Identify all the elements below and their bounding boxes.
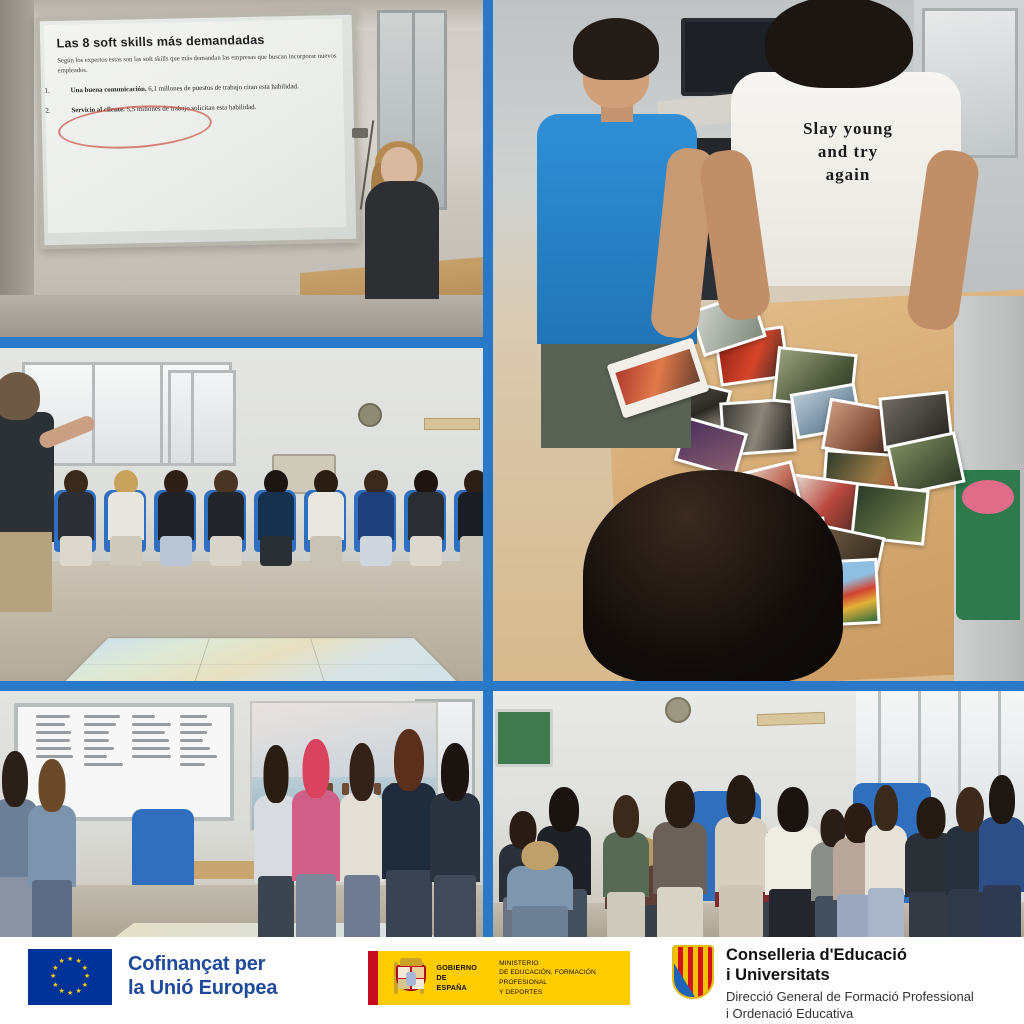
ministerio-label: MINISTERIO DE EDUCACIÓN, FORMACIÓN PROFE…	[499, 959, 630, 997]
conselleria-text: Conselleria d'Educació i Universitats Di…	[726, 945, 974, 1023]
seated-students-row	[30, 466, 482, 562]
photo-projector-slide[interactable]: Las 8 soft skills más demandadas Según l…	[0, 0, 483, 337]
person-student	[715, 775, 767, 937]
slide-item-2-number: 2.	[59, 106, 71, 117]
spain-flag-stripe	[368, 951, 378, 1005]
gobierno-de-espana-logo: GOBIERNO DE ESPAÑA MINISTERIO DE EDUCACI…	[368, 951, 630, 1005]
conselleria-educacio-logo: Conselleria d'Educació i Universitats Di…	[672, 945, 974, 1023]
whiteboard-notes-column	[36, 715, 76, 763]
eu-star-icon: ★	[84, 974, 90, 980]
person-student	[406, 470, 446, 560]
photo-image	[0, 691, 483, 937]
slide-item-1-number: 1.	[58, 86, 70, 97]
eu-star-icon: ★	[59, 989, 65, 995]
slide-content: Las 8 soft skills más demandadas Según l…	[56, 32, 339, 117]
person-student	[292, 739, 340, 937]
eu-star-icon: ★	[67, 957, 73, 963]
office-chair	[132, 809, 194, 897]
person-student	[653, 781, 707, 937]
person-student	[256, 470, 296, 560]
person-student	[382, 729, 436, 937]
person-student	[28, 759, 76, 937]
eu-logo-text: Cofinançat per la Unió Europea	[128, 953, 277, 1000]
european-union-logo: ★★★★★★★★★★★★ Cofinançat per la Unió Euro…	[28, 949, 277, 1005]
person-student	[340, 743, 384, 937]
person-student	[106, 470, 146, 560]
slide-item-1-bold: Una buena comunicación.	[70, 86, 146, 94]
picture-card-image	[890, 435, 962, 493]
person-student	[603, 795, 649, 937]
whiteboard-notes-column	[180, 715, 220, 771]
person-student	[306, 470, 346, 560]
photo-image	[0, 348, 483, 681]
photo-classroom-circle-map[interactable]	[0, 348, 483, 681]
wall-clock-icon	[665, 697, 691, 723]
person-student	[430, 743, 480, 937]
conselleria-sub-1: Direcció General de Formació Professiona…	[726, 989, 974, 1006]
tshirt-text: Slay youngand tryagain	[763, 118, 933, 187]
conselleria-title-1: Conselleria d'Educació	[726, 945, 974, 965]
person-student	[979, 775, 1024, 937]
photo-standing-circle[interactable]	[493, 691, 1024, 937]
person-student	[156, 470, 196, 560]
eu-line-2: la Unió Europea	[128, 977, 277, 1001]
whiteboard-notes-column	[84, 715, 124, 771]
eu-star-icon: ★	[76, 959, 82, 965]
person-student	[456, 470, 483, 560]
person-student	[507, 841, 573, 937]
funding-logos-footer: ★★★★★★★★★★★★ Cofinançat per la Unió Euro…	[0, 937, 1024, 1024]
eu-star-icon: ★	[50, 974, 56, 980]
person-student-foreground	[583, 470, 843, 681]
slide-item-1-rest: 6,1 millones de puestos de trabajo citan…	[148, 84, 299, 94]
person-student	[206, 470, 246, 560]
person-student	[865, 785, 907, 937]
ministerio-line-1: MINISTERIO	[499, 959, 630, 969]
slide-item-1: 1.Una buena comunicación. 6,1 millones d…	[58, 81, 339, 97]
eu-star-icon: ★	[82, 983, 88, 989]
eu-flag-icon: ★★★★★★★★★★★★	[28, 949, 112, 1005]
slide-intro: Según los expertos estas son las soft sk…	[57, 52, 338, 77]
person-student-white-tshirt: Slay youngand tryagain	[721, 0, 971, 380]
eu-star-icon: ★	[52, 966, 58, 972]
wall-clock-icon	[358, 403, 382, 427]
ministerio-line-3: Y DEPORTES	[499, 988, 630, 998]
person-teacher	[0, 372, 74, 612]
conselleria-sub-2: i Ordenació Educativa	[726, 1006, 974, 1023]
photo-image	[493, 691, 1024, 937]
gobierno-line-2: DE ESPAÑA	[436, 973, 477, 992]
eu-star-icon: ★	[52, 983, 58, 989]
gobierno-line-1: GOBIERNO	[436, 963, 477, 973]
spain-coat-of-arms-icon	[394, 958, 424, 998]
eu-star-icon: ★	[67, 991, 73, 997]
photo-grid: Las 8 soft skills más demandadas Según l…	[0, 0, 1024, 937]
person-seated	[363, 147, 441, 297]
ministerio-line-2: DE EDUCACIÓN, FORMACIÓN PROFESIONAL	[499, 968, 630, 987]
person-student	[356, 470, 396, 560]
valencia-shield-icon	[672, 945, 714, 999]
eu-star-icon: ★	[59, 959, 65, 965]
conselleria-title-2: i Universitats	[726, 965, 974, 985]
eu-line-1: Cofinançat per	[128, 953, 277, 977]
photo-card-sorting[interactable]: Slay youngand tryagain	[493, 0, 1024, 681]
eu-star-icon: ★	[82, 966, 88, 972]
photo-image: Slay youngand tryagain	[493, 0, 1024, 681]
eu-star-icon: ★	[76, 989, 82, 995]
photo-whiteboard-screen[interactable]	[0, 691, 483, 937]
photo-image: Las 8 soft skills más demandadas Según l…	[0, 0, 483, 337]
gobierno-label: GOBIERNO DE ESPAÑA	[436, 963, 477, 992]
floor-map	[46, 638, 476, 681]
collage-root: Las 8 soft skills más demandadas Según l…	[0, 0, 1024, 1024]
whiteboard-notes-column	[132, 715, 172, 763]
